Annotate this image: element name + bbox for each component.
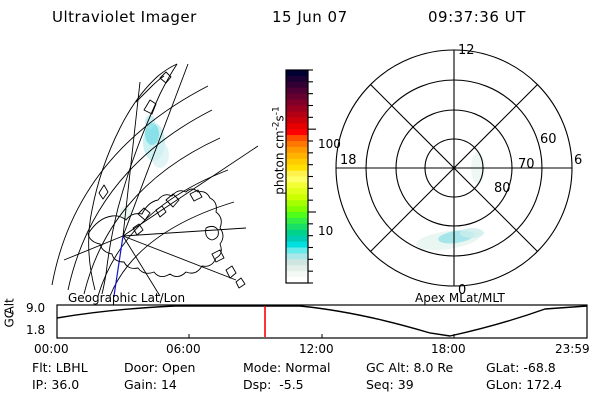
status-glat: GLat: -68.8 — [486, 360, 556, 375]
colorbar-axis-label: photon cm-2s-1 — [272, 76, 287, 226]
orbit-xtick-1800: 18:00 — [431, 342, 466, 356]
status-gcalt-label: GC Alt: — [366, 360, 410, 375]
colorbar-band — [286, 259, 308, 266]
orbit-ytick-1.8: 1.8 — [26, 323, 45, 337]
status-glat-value: -68.8 — [523, 360, 555, 375]
mlat-label-60: 60 — [540, 132, 557, 147]
colorbar-band — [286, 159, 308, 166]
status-gcalt-value: 8.0 Re — [414, 360, 454, 375]
colorbar-band — [286, 129, 308, 136]
colorbar-band — [286, 76, 308, 83]
orbit-altitude-panel[interactable]: Geographic Lat/Lon Apex MLat/MLT 9.0 1.8… — [0, 292, 600, 354]
colorbar-band — [286, 253, 308, 260]
orbit-xtick-0000: 00:00 — [34, 342, 69, 356]
colorbar-band — [286, 153, 308, 160]
status-mode: Mode: Normal — [243, 360, 331, 375]
orbit-xtick-2359: 23:59 — [555, 342, 590, 356]
observation-time: 09:37:36 UT — [428, 8, 526, 26]
status-ip: IP: 36.0 — [32, 377, 79, 392]
colorbar-band — [286, 182, 308, 189]
observation-date: 15 Jun 07 — [272, 8, 348, 26]
orbit-ytick-9: 9.0 — [26, 301, 45, 315]
status-mode-value: Normal — [285, 360, 330, 375]
colorbar-band — [286, 171, 308, 178]
colorbar-band — [286, 123, 308, 130]
status-glat-label: GLat: — [486, 360, 519, 375]
colorbar-band — [286, 218, 308, 225]
colorbar-band — [286, 165, 308, 172]
colorbar-band — [286, 117, 308, 124]
colorbar-unit-exp2: -1 — [272, 106, 282, 115]
status-gcalt: GC Alt: 8.0 Re — [366, 360, 453, 375]
status-door-value: Open — [162, 360, 195, 375]
status-dsp-label: Dsp: — [243, 377, 271, 392]
colorbar-band — [286, 242, 308, 249]
status-gain-label: Gain: — [124, 377, 157, 392]
apex-polar-svg: 12 18 6 0 60 70 80 — [330, 40, 592, 298]
geographic-map-panel[interactable] — [40, 42, 265, 297]
mlt-spokes — [336, 50, 572, 286]
status-door-label: Door: — [124, 360, 158, 375]
colorbar-band — [286, 70, 308, 77]
colorbar-band — [286, 106, 308, 113]
status-seq-value: 39 — [398, 377, 414, 392]
status-door: Door: Open — [124, 360, 195, 375]
colorbar-band — [286, 206, 308, 213]
orbit-xtick-0600: 06:00 — [166, 342, 201, 356]
status-filter-label: Flt: — [32, 360, 52, 375]
status-glon-value: 172.4 — [526, 377, 562, 392]
colorbar-band — [286, 271, 308, 278]
colorbar-band — [286, 236, 308, 243]
orbit-left-caption: Geographic Lat/Lon — [68, 291, 185, 305]
status-ip-label: IP: — [32, 377, 47, 392]
status-dsp: Dsp: -5.5 — [243, 377, 304, 392]
latitude-grid-lines — [52, 86, 234, 296]
colorbar-band — [286, 200, 308, 207]
colorbar-panel: photon cm-2s-1 100 10 — [262, 55, 332, 295]
colorbar-band — [286, 111, 308, 118]
colorbar-band — [286, 177, 308, 184]
prime-meridian-line — [114, 236, 123, 296]
colorbar-band — [286, 88, 308, 95]
header-bar: Ultraviolet Imager 15 Jun 07 09:37:36 UT — [0, 8, 600, 32]
status-glon-label: GLon: — [486, 377, 522, 392]
orbit-xtick-1200: 12:00 — [299, 342, 334, 356]
mlt-label-6: 6 — [574, 153, 582, 168]
colorbar-band — [286, 224, 308, 231]
apex-polar-panel[interactable]: 12 18 6 0 60 70 80 — [330, 40, 592, 298]
colorbar-unit-mid: s — [273, 115, 287, 121]
colorbar-band — [286, 212, 308, 219]
colorbar-band — [286, 248, 308, 255]
colorbar-band — [286, 194, 308, 201]
mlt-label-18: 18 — [340, 153, 357, 168]
colorbar-tick-marks — [308, 70, 316, 283]
colorbar-band — [286, 100, 308, 107]
colorbar-unit-main: photon cm — [273, 130, 287, 194]
status-gain-value: 14 — [161, 377, 177, 392]
status-filter: Flt: LBHL — [32, 360, 88, 375]
mlat-label-70: 70 — [518, 157, 535, 172]
colorbar-band — [286, 94, 308, 101]
colorbar-band — [286, 141, 308, 148]
orbit-right-caption: Apex MLat/MLT — [415, 291, 505, 305]
orbit-altitude-trace — [57, 306, 587, 336]
status-seq: Seq: 39 — [366, 377, 414, 392]
status-filter-value: LBHL — [56, 360, 88, 375]
coastline-outlines — [88, 64, 245, 294]
colorbar-unit-exp1: -2 — [272, 121, 282, 130]
status-gain: Gain: 14 — [124, 377, 177, 392]
colorbar-band — [286, 188, 308, 195]
status-seq-label: Seq: — [366, 377, 394, 392]
mlat-label-80: 80 — [494, 181, 511, 196]
colorbar-band — [286, 135, 308, 142]
colorbar-band — [286, 147, 308, 154]
mlt-label-12: 12 — [458, 43, 475, 58]
status-ip-value: 36.0 — [51, 377, 79, 392]
orbit-x-tick-marks — [57, 334, 587, 338]
longitude-grid-lines — [64, 64, 258, 296]
status-mode-label: Mode: — [243, 360, 281, 375]
colorbar-band — [286, 265, 308, 272]
status-glon: GLon: 172.4 — [486, 377, 562, 392]
status-footer: Flt: LBHL Door: Open Mode: Normal GC Alt… — [0, 360, 600, 400]
colorbar-band — [286, 82, 308, 89]
colorbar-gradient — [286, 70, 308, 284]
geographic-map-svg — [40, 42, 265, 297]
status-dsp-value: -5.5 — [279, 377, 303, 392]
colorbar-band — [286, 230, 308, 237]
instrument-title: Ultraviolet Imager — [52, 8, 197, 26]
